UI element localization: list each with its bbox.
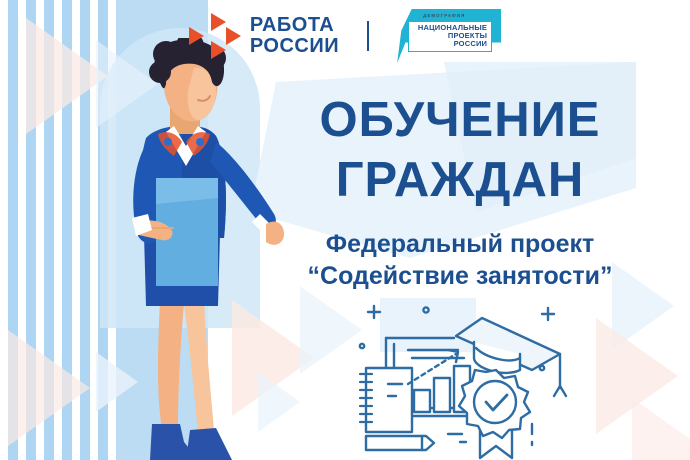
- logo-np-line-3: РОССИИ: [413, 40, 487, 48]
- education-icons-illustration: [352, 296, 572, 460]
- page-title-line-2: ГРАЖДАН: [250, 150, 670, 210]
- logo-line-2: РОССИИ: [250, 36, 339, 57]
- poster-canvas: РАБОТА РОССИИ ДЕМОГРАФИЯ НАЦИОНАЛЬНЫЕ ПР…: [0, 0, 690, 460]
- plus-icon-right: [542, 308, 554, 320]
- subtitle-line-1: Федеральный проект: [250, 228, 670, 260]
- logo-np-textbox: НАЦИОНАЛЬНЫЕ ПРОЕКТЫ РОССИИ: [408, 21, 492, 52]
- pencil-icon: [366, 436, 434, 450]
- dot-2: [360, 344, 364, 348]
- watermark-triangle-pink-5: [632, 398, 690, 460]
- dot-3: [540, 366, 544, 370]
- plus-icon-left: [368, 306, 380, 318]
- logo-rabota-rossii-text: РАБОТА РОССИИ: [250, 15, 339, 57]
- title-block: ОБУЧЕНИЕ ГРАЖДАН Федеральный проект “Сод…: [250, 90, 670, 292]
- logo-line-1: РАБОТА: [250, 15, 339, 36]
- page-title-line-1: ОБУЧЕНИЕ: [250, 90, 670, 150]
- four-triangles-icon: [189, 13, 241, 59]
- award-ribbon-icon: [459, 370, 530, 458]
- logo-national-projects[interactable]: ДЕМОГРАФИЯ НАЦИОНАЛЬНЫЕ ПРОЕКТЫ РОССИИ: [397, 9, 501, 63]
- logo-np-eyebrow: ДЕМОГРАФИЯ: [423, 13, 465, 18]
- header-logos: РАБОТА РОССИИ ДЕМОГРАФИЯ НАЦИОНАЛЬНЫЕ ПР…: [0, 0, 690, 72]
- logo-rabota-rossii[interactable]: РАБОТА РОССИИ: [189, 13, 339, 59]
- subtitle-line-2: “Содействие занятости”: [250, 260, 670, 292]
- logo-divider: [367, 21, 369, 51]
